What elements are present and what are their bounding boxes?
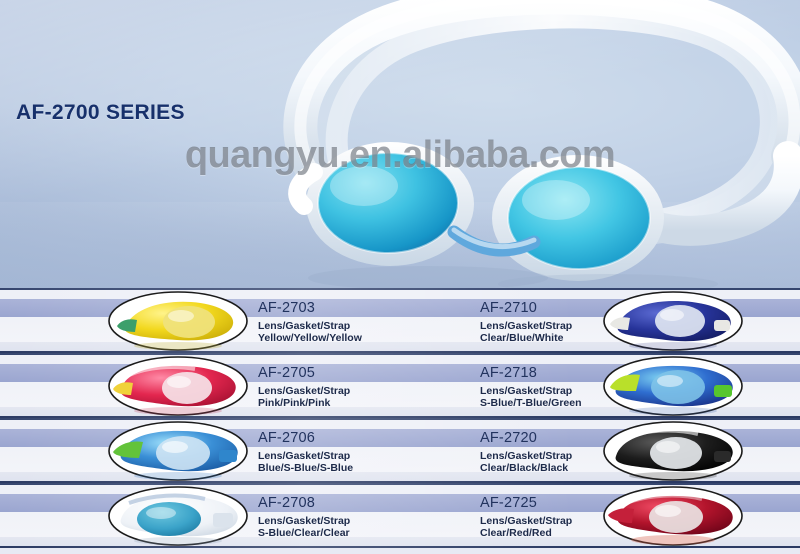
product-spec: Lens/Gasket/Strap Clear/Red/Red [480,515,572,540]
product-thumbnail[interactable] [107,290,250,352]
spec-colors: S-Blue/Clear/Clear [258,527,350,539]
spec-colors: S-Blue/T-Blue/Green [480,397,582,409]
product-thumbnail[interactable] [602,485,745,547]
product-model: AF-2718 [480,365,537,381]
table-row[interactable]: AF-2708 Lens/Gasket/Strap S-Blue/Clear/C… [0,483,800,548]
page-title: AF-2700 SERIES [16,101,185,125]
product-spec: Lens/Gasket/Strap Yellow/Yellow/Yellow [258,320,362,345]
product-thumbnail[interactable] [602,420,745,482]
spec-label: Lens/Gasket/Strap [258,515,350,527]
product-thumbnail[interactable] [107,355,250,417]
product-model: AF-2708 [258,495,315,511]
spec-label: Lens/Gasket/Strap [258,385,350,397]
product-thumbnail[interactable] [107,420,250,482]
product-model: AF-2705 [258,365,315,381]
hero-banner: quangyu.en.alibaba.com AF-2700 SERIES [0,0,800,288]
product-thumbnail[interactable] [107,485,250,547]
table-row[interactable]: AF-2706 Lens/Gasket/Strap Blue/S-Blue/S-… [0,418,800,483]
product-spec: Lens/Gasket/Strap S-Blue/T-Blue/Green [480,385,582,410]
spec-colors: Clear/Blue/White [480,332,563,344]
product-spec: Lens/Gasket/Strap Blue/S-Blue/S-Blue [258,450,353,475]
spec-colors: Clear/Black/Black [480,462,568,474]
product-spec: Lens/Gasket/Strap Pink/Pink/Pink [258,385,350,410]
catalog-page: quangyu.en.alibaba.com AF-2700 SERIES AF… [0,0,800,554]
spec-colors: Blue/S-Blue/S-Blue [258,462,353,474]
table-row[interactable]: AF-2703 Lens/Gasket/Strap Yellow/Yellow/… [0,288,800,353]
spec-label: Lens/Gasket/Strap [480,450,572,462]
spec-colors: Yellow/Yellow/Yellow [258,332,362,344]
product-spec: Lens/Gasket/Strap Clear/Black/Black [480,450,572,475]
product-model: AF-2703 [258,300,315,316]
spec-label: Lens/Gasket/Strap [258,320,350,332]
table-row[interactable]: AF-2705 Lens/Gasket/Strap Pink/Pink/Pink… [0,353,800,418]
spec-colors: Pink/Pink/Pink [258,397,330,409]
product-model: AF-2706 [258,430,315,446]
spec-label: Lens/Gasket/Strap [480,385,572,397]
product-spec: Lens/Gasket/Strap S-Blue/Clear/Clear [258,515,350,540]
spec-label: Lens/Gasket/Strap [480,515,572,527]
spec-label: Lens/Gasket/Strap [258,450,350,462]
product-spec: Lens/Gasket/Strap Clear/Blue/White [480,320,572,345]
product-thumbnail[interactable] [602,355,745,417]
product-model: AF-2720 [480,430,537,446]
product-model: AF-2710 [480,300,537,316]
hero-goggle-image [248,0,800,288]
product-rows: AF-2703 Lens/Gasket/Strap Yellow/Yellow/… [0,288,800,554]
product-thumbnail[interactable] [602,290,745,352]
product-model: AF-2725 [480,495,537,511]
spec-colors: Clear/Red/Red [480,527,552,539]
spec-label: Lens/Gasket/Strap [480,320,572,332]
